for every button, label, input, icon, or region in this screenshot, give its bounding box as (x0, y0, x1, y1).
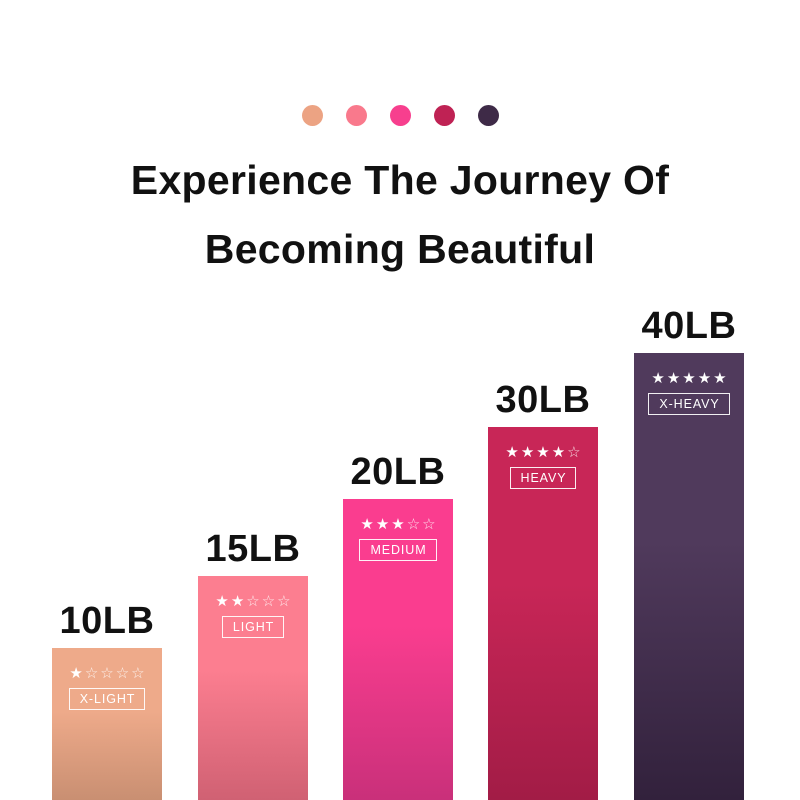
star-filled-icon: ★ (376, 517, 389, 532)
star-empty-icon: ☆ (277, 594, 290, 609)
star-empty-icon: ☆ (262, 594, 275, 609)
star-rating: ★★★★☆ (505, 445, 580, 460)
bar-level-chip: MEDIUM (359, 539, 436, 561)
bar-group[interactable]: 20LB★★★☆☆MEDIUM (343, 499, 453, 800)
star-filled-icon: ★ (667, 371, 680, 386)
star-empty-icon: ☆ (116, 666, 129, 681)
bar-badge: ★★☆☆☆LIGHT (198, 594, 308, 638)
star-filled-icon: ★ (682, 371, 695, 386)
star-empty-icon: ☆ (422, 517, 435, 532)
star-empty-icon: ☆ (131, 666, 144, 681)
infographic-canvas: Experience The Journey Of Becoming Beaut… (0, 0, 800, 800)
star-filled-icon: ★ (231, 594, 244, 609)
bar-group[interactable]: 10LB★☆☆☆☆X-LIGHT (52, 648, 162, 800)
star-filled-icon: ★ (521, 445, 534, 460)
bar-badge: ★☆☆☆☆X-LIGHT (52, 666, 162, 710)
star-filled-icon: ★ (536, 445, 549, 460)
bar-weight-label: 10LB (52, 600, 162, 643)
star-rating: ★★☆☆☆ (215, 594, 290, 609)
bar-weight-label: 20LB (343, 451, 453, 494)
bar-badge: ★★★★☆HEAVY (488, 445, 598, 489)
bar-column[interactable] (634, 353, 744, 800)
star-empty-icon: ☆ (567, 445, 580, 460)
bar-badge: ★★★☆☆MEDIUM (343, 517, 453, 561)
star-rating: ★★★★★ (651, 371, 726, 386)
bar-group[interactable]: 30LB★★★★☆HEAVY (488, 427, 598, 800)
bar-weight-label: 30LB (488, 379, 598, 422)
bar-badge: ★★★★★X-HEAVY (634, 371, 744, 415)
bar-group[interactable]: 15LB★★☆☆☆LIGHT (198, 576, 308, 800)
star-filled-icon: ★ (69, 666, 82, 681)
star-empty-icon: ☆ (407, 517, 420, 532)
star-rating: ★★★☆☆ (360, 517, 435, 532)
bar-group[interactable]: 40LB★★★★★X-HEAVY (634, 353, 744, 800)
bar-level-chip: X-HEAVY (648, 393, 729, 415)
resistance-band-bar-chart: 10LB★☆☆☆☆X-LIGHT15LB★★☆☆☆LIGHT20LB★★★☆☆M… (0, 0, 800, 800)
bar-weight-label: 40LB (634, 305, 744, 348)
star-filled-icon: ★ (713, 371, 726, 386)
star-empty-icon: ☆ (100, 666, 113, 681)
star-filled-icon: ★ (215, 594, 228, 609)
star-empty-icon: ☆ (85, 666, 98, 681)
bar-weight-label: 15LB (198, 528, 308, 571)
star-filled-icon: ★ (552, 445, 565, 460)
star-filled-icon: ★ (651, 371, 664, 386)
star-filled-icon: ★ (698, 371, 711, 386)
bar-level-chip: HEAVY (510, 467, 577, 489)
star-filled-icon: ★ (505, 445, 518, 460)
bar-level-chip: X-LIGHT (69, 688, 146, 710)
star-rating: ★☆☆☆☆ (69, 666, 144, 681)
star-filled-icon: ★ (360, 517, 373, 532)
star-empty-icon: ☆ (246, 594, 259, 609)
bar-level-chip: LIGHT (222, 616, 284, 638)
star-filled-icon: ★ (391, 517, 404, 532)
